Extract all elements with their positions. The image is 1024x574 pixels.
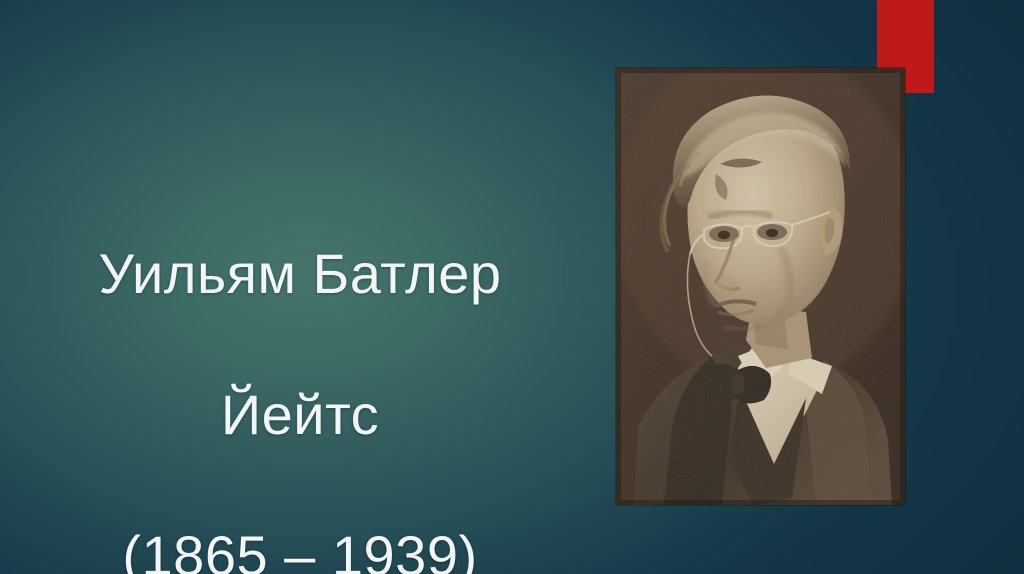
slide-canvas: Уильям Батлер Йейтс (1865 – 1939) — [0, 0, 1024, 574]
title-line-3: (1865 – 1939) — [0, 521, 600, 574]
slide-title: Уильям Батлер Йейтс (1865 – 1939) — [0, 168, 600, 574]
title-line-1: Уильям Батлер — [0, 239, 600, 310]
portrait-illustration — [616, 68, 905, 505]
title-line-2: Йейтс — [0, 380, 600, 451]
portrait-photo — [616, 68, 905, 505]
